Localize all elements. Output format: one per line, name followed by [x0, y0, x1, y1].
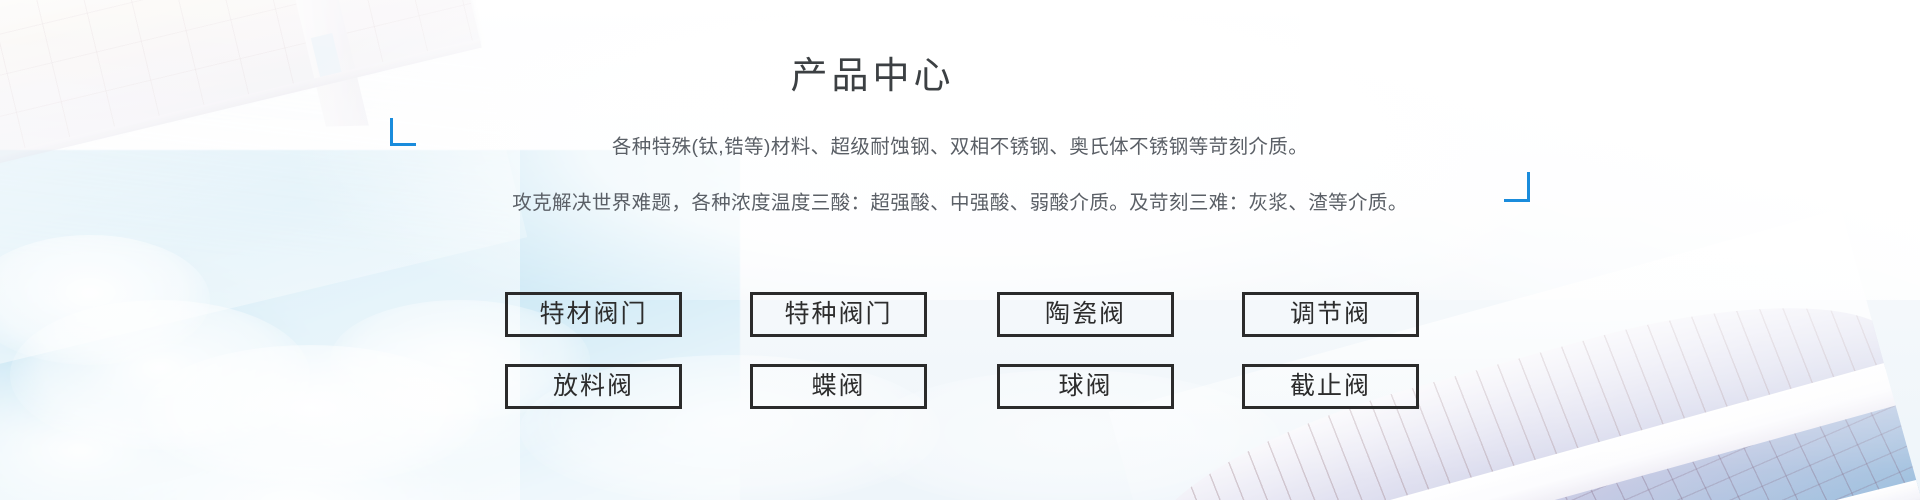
tag-button-ceramic-valve[interactable]: 陶瓷阀 [997, 292, 1174, 337]
tag-button-ball-valve[interactable]: 球阀 [997, 364, 1174, 409]
tag-button-special-valve[interactable]: 特种阀门 [750, 292, 927, 337]
tag-button-butterfly-valve[interactable]: 蝶阀 [750, 364, 927, 409]
decorative-bracket-bottom-right [1500, 172, 1530, 202]
bracket-vertical-stroke [1527, 172, 1530, 202]
bracket-horizontal-stroke [1504, 199, 1530, 202]
tag-button-control-valve[interactable]: 调节阀 [1242, 292, 1419, 337]
tag-button-discharge-valve[interactable]: 放料阀 [505, 364, 682, 409]
product-category-row-2: 放料阀 蝶阀 球阀 截止阀 [0, 364, 1920, 409]
banner-content: 产品中心 各种特殊(钛,锆等)材料、超级耐蚀钢、双相不锈钢、奥氏体不锈钢等苛刻介… [0, 0, 1920, 500]
description-block: 各种特殊(钛,锆等)材料、超级耐蚀钢、双相不锈钢、奥氏体不锈钢等苛刻介质。 攻克… [0, 130, 1920, 220]
tag-button-globe-valve[interactable]: 截止阀 [1242, 364, 1419, 409]
description-line-2: 攻克解决世界难题，各种浓度温度三酸：超强酸、中强酸、弱酸介质。及苛刻三难：灰浆、… [0, 186, 1920, 220]
description-line-1: 各种特殊(钛,锆等)材料、超级耐蚀钢、双相不锈钢、奥氏体不锈钢等苛刻介质。 [0, 130, 1920, 164]
product-category-row-1: 特材阀门 特种阀门 陶瓷阀 调节阀 [0, 292, 1920, 337]
product-center-banner: 产品中心 各种特殊(钛,锆等)材料、超级耐蚀钢、双相不锈钢、奥氏体不锈钢等苛刻介… [0, 0, 1920, 500]
product-category-tags: 特材阀门 特种阀门 陶瓷阀 调节阀 放料阀 蝶阀 球阀 截止阀 [0, 292, 1920, 409]
page-title: 产品中心 [0, 52, 1745, 99]
tag-button-techai-material-valve[interactable]: 特材阀门 [505, 292, 682, 337]
